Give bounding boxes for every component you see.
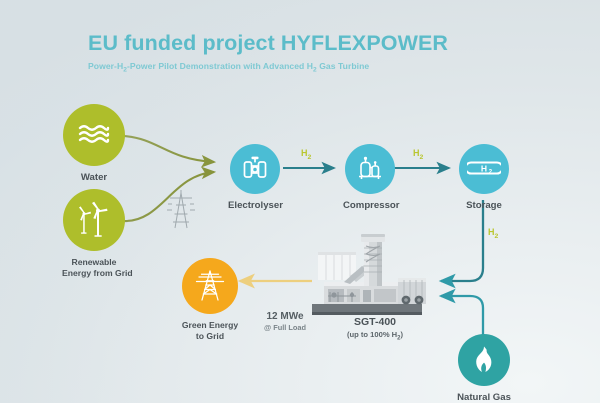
node-renewable-label-line1: Renewable: [62, 257, 126, 268]
flame-icon: [471, 345, 497, 375]
turbine-spec-post: ): [401, 330, 404, 339]
compressor-icon: [355, 154, 385, 184]
node-storage[interactable]: H 2 Storage: [458, 144, 510, 212]
green-energy-circle: [182, 258, 238, 314]
subtitle-part-2: -Power Pilot Demonstration with Advanced…: [127, 61, 313, 71]
node-water-label: Water: [62, 172, 126, 184]
node-natural-gas[interactable]: Natural Gas: [456, 334, 512, 403]
power-output-condition: @ Full Load: [240, 323, 330, 332]
node-renewable-label-line2: Energy from Grid: [62, 268, 126, 279]
wind-turbine-icon: [76, 201, 112, 239]
electrolyser-icon: [240, 154, 270, 184]
infographic-canvas: EU funded project HYFLEXPOWER Power-H2-P…: [0, 0, 600, 403]
h2-label-electrolyser-compressor: H2: [301, 148, 311, 161]
node-green-energy-label-group: Green Energy to Grid: [180, 320, 240, 341]
power-pylon-icon: [193, 268, 227, 304]
node-compressor[interactable]: Compressor: [343, 144, 397, 212]
h2-label-storage-turbine: H2: [488, 227, 498, 240]
node-electrolyser[interactable]: Electrolyser: [228, 144, 282, 212]
turbine-spec-pre: (up to 100% H: [347, 330, 397, 339]
node-natural-gas-label: Natural Gas: [456, 392, 512, 403]
h2-label-compressor-storage: H2: [413, 148, 423, 161]
node-storage-label: Storage: [458, 200, 510, 212]
compressor-circle: [345, 144, 395, 194]
node-renewable-label-group: Renewable Energy from Grid: [62, 257, 126, 278]
svg-text:H: H: [481, 164, 487, 174]
node-renewable-energy[interactable]: Renewable Energy from Grid: [62, 189, 126, 278]
hydrogen-tank-icon: H 2: [467, 157, 501, 181]
subtitle-part-3: Gas Turbine: [317, 61, 370, 71]
subtitle-part-1: Power-H: [88, 61, 123, 71]
node-compressor-label: Compressor: [343, 200, 397, 212]
flow-water-to-electrolyser: [124, 136, 214, 162]
h2-subscript: 2: [308, 154, 312, 161]
water-waves-icon: [77, 123, 111, 147]
storage-circle: H 2: [459, 144, 509, 194]
h2-subscript: 2: [420, 154, 424, 161]
h2-subscript: 2: [495, 233, 499, 240]
water-circle: [63, 104, 125, 166]
gas-turbine-photo: [306, 232, 436, 322]
natural-gas-circle: [458, 334, 510, 386]
power-output-caption: 12 MWe @ Full Load: [240, 311, 330, 332]
page-title: EU funded project HYFLEXPOWER: [88, 32, 448, 56]
flow-natural-gas-to-turbine: [441, 296, 483, 335]
node-green-energy-label-line2: to Grid: [180, 331, 240, 342]
header: EU funded project HYFLEXPOWER Power-H2-P…: [88, 32, 448, 73]
node-water[interactable]: Water: [62, 104, 126, 184]
renewable-circle: [63, 189, 125, 251]
node-green-energy-label-line1: Green Energy: [180, 320, 240, 331]
page-subtitle: Power-H2-Power Pilot Demonstration with …: [88, 61, 448, 74]
flow-renewable-to-electrolyser: [124, 172, 214, 221]
node-green-energy-to-grid[interactable]: Green Energy to Grid: [180, 258, 240, 341]
power-output-value: 12 MWe: [240, 311, 330, 322]
flow-storage-to-turbine: [441, 200, 483, 281]
node-electrolyser-label: Electrolyser: [228, 200, 282, 212]
electrolyser-circle: [230, 144, 280, 194]
